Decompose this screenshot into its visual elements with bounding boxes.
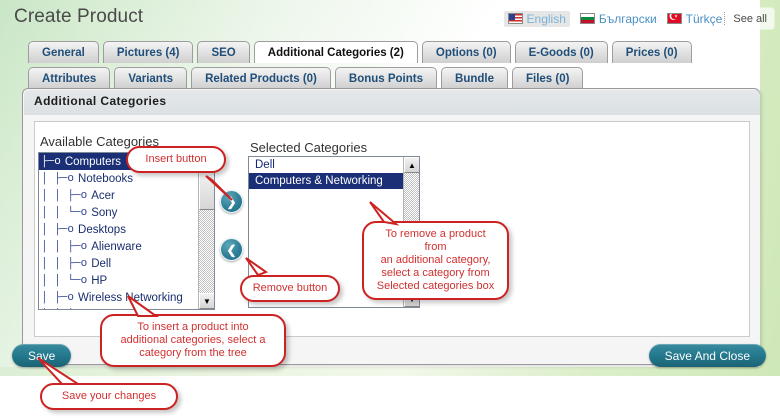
annotation-tails (0, 0, 780, 418)
screen-root: Create Product English Български Türkçe … (0, 0, 780, 418)
